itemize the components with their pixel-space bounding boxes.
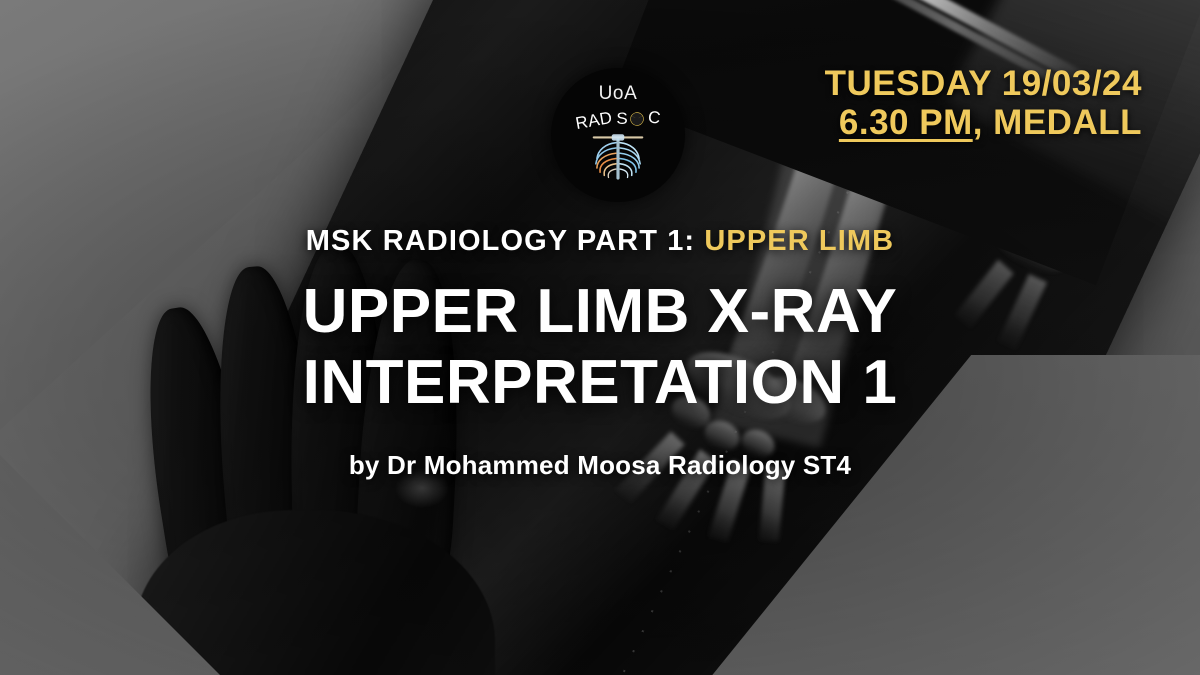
uoa-radsoc-logo[interactable]: UoA RAD S C (551, 68, 685, 202)
event-datetime-block: TUESDAY 19/03/24 6.30 PM, MEDALL (825, 64, 1142, 142)
series-subtitle-highlight: UPPER LIMB (704, 225, 894, 257)
series-subtitle-plain: MSK RADIOLOGY PART 1: (306, 225, 695, 257)
title-block: MSK RADIOLOGY PART 1: UPPER LIMB UPPER L… (0, 226, 1200, 481)
speaker-byline: by Dr Mohammed Moosa Radiology ST4 (0, 450, 1200, 481)
ribcage-xray-icon (581, 129, 655, 187)
page-title-line1: UPPER LIMB X-RAY (0, 277, 1200, 348)
logo-radsoc-text: RAD S C (575, 110, 661, 127)
logo-uoa-text: UoA (599, 84, 638, 103)
logo-s-text: S (616, 110, 628, 127)
page-title-line2: INTERPRETATION 1 (0, 348, 1200, 419)
radiation-trefoil-icon (630, 112, 644, 126)
event-poster: AP ERECT R ACUTE L UoA RAD S (0, 0, 1200, 675)
event-date: TUESDAY 19/03/24 (825, 64, 1142, 103)
event-time-venue: 6.30 PM, MEDALL (825, 103, 1142, 142)
event-venue: , MEDALL (973, 103, 1142, 142)
event-time: 6.30 PM (839, 103, 973, 142)
series-subtitle: MSK RADIOLOGY PART 1: UPPER LIMB (0, 226, 1200, 258)
logo-c-text: C (647, 108, 662, 127)
